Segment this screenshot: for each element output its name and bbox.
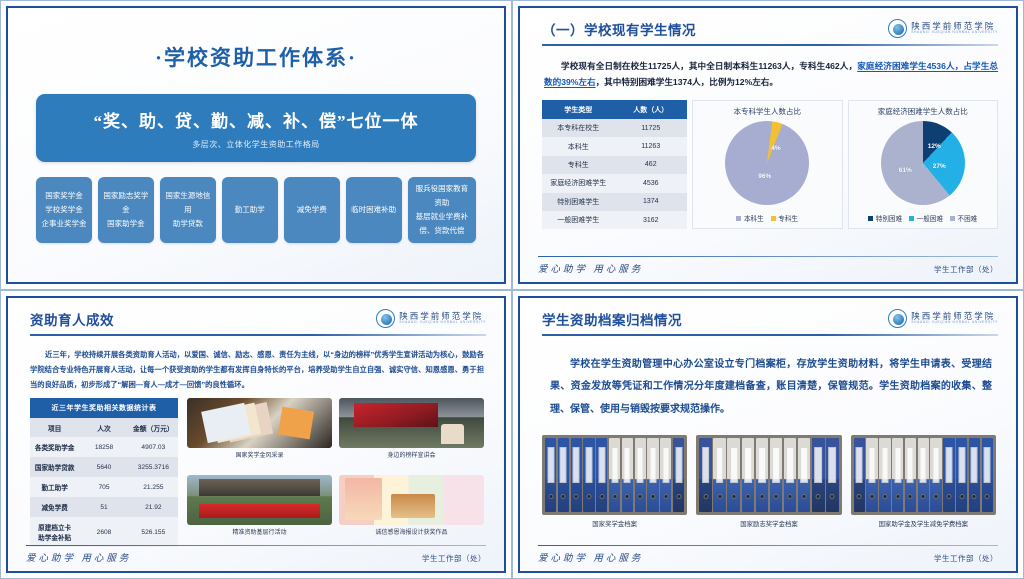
slide-2-footer: 爱心助学 用心服务 学生工作部（处） <box>538 256 998 275</box>
university-logo-text: 陕西学前师范学院 SHAANXI XUEQIAN NORMAL UNIVERSI… <box>399 312 486 325</box>
university-logo: 陕西学前师范学院 SHAANXI XUEQIAN NORMAL UNIVERSI… <box>376 309 486 328</box>
binder-spine-label <box>800 447 808 483</box>
pie-slices <box>725 121 809 205</box>
university-logo-text: 陕西学前师范学院 SHAANXI XUEQIAN NORMAL UNIVERSI… <box>911 22 998 35</box>
photo-caption: 身边的榜样宣讲会 <box>339 450 484 459</box>
binder-spine-label <box>945 447 952 483</box>
binder-spine-label <box>586 447 593 483</box>
pie-value-label: 27% <box>933 163 946 170</box>
binder-spine-label <box>560 447 567 483</box>
photo-image <box>187 475 332 525</box>
pie-chart-undergrad-card: 本专科学生人数占比 4% 96% 本科生 专科生 <box>692 100 843 229</box>
pie-chart-undergrad: 4% 96% <box>725 121 809 205</box>
university-logo: 陕西学前师范学院 SHAANXI XUEQIAN NORMAL UNIVERSI… <box>888 309 998 328</box>
legend-swatch-icon <box>868 216 873 221</box>
slide-4-footer: 爱心助学 用心服务 学生工作部（处） <box>538 545 998 564</box>
binder <box>918 438 929 512</box>
slide-3-frame: 资助育人成效 陕西学前师范学院 SHAANXI XUEQIAN NORMAL U… <box>6 296 506 573</box>
column-header-persons: 人次 <box>79 418 128 437</box>
page-title: （一）学校现有学生情况 <box>542 19 696 39</box>
photo-caption: 国家奖学金风采录 <box>187 450 332 459</box>
binder <box>596 438 607 512</box>
gallery-item: 国家奖学金风采录 <box>187 398 332 471</box>
aid-category-line: 助学贷款 <box>163 217 213 231</box>
legend-label: 专科生 <box>778 213 798 223</box>
cell-amount: 3255.3716 <box>129 457 178 477</box>
pie-slices <box>881 121 965 205</box>
binder <box>943 438 954 512</box>
cell-item: 各类奖助学金 <box>30 437 79 457</box>
page-title: ·学校资助工作体系· <box>8 42 504 72</box>
archive-photo-row: 国家奖学金档案 国家励志奖学金档案 国家助学金及学生减免学费档案 <box>542 435 996 528</box>
slide-2-paragraph: 学校现有全日制在校生11725人，其中全日制本科生11263人，专科生462人，… <box>544 58 998 92</box>
binder-spine-label <box>716 447 724 483</box>
column-header-count: 人数（人） <box>615 100 688 119</box>
photo-caption: 精准资助基层行活动 <box>187 527 332 536</box>
cell-persons: 51 <box>79 497 128 517</box>
cell-amount: 21.92 <box>129 497 178 517</box>
aid-category-line: 基层就业学费补 <box>416 210 469 224</box>
cell-count: 1374 <box>615 193 688 211</box>
binder-spine-label <box>856 447 863 483</box>
table-row: 本专科在校生 11725 <box>542 119 687 137</box>
table-row: 减免学费 51 21.92 <box>30 497 178 517</box>
table-caption-row: 近三年学生奖助相关数据统计表 <box>30 398 178 418</box>
slide-2-header: （一）学校现有学生情况 陕西学前师范学院 SHAANXI XUEQIAN NOR… <box>520 8 1016 39</box>
university-emblem-icon <box>376 309 395 328</box>
binder-spine-label <box>814 447 822 483</box>
binder-spine-label <box>702 447 710 483</box>
page-title: 学生资助档案归档情况 <box>542 309 682 329</box>
footer-divider <box>538 256 998 257</box>
slide-3-content-row: 近三年学生奖助相关数据统计表 项目 人次 金额（万元） 各类奖助学金 18258… <box>30 398 484 547</box>
shelf-photo <box>851 435 996 515</box>
cell-count: 3162 <box>615 211 688 229</box>
photo-image <box>187 398 332 448</box>
slide-3-header: 资助育人成效 陕西学前师范学院 SHAANXI XUEQIAN NORMAL U… <box>8 298 504 329</box>
cell-type: 一般困难学生 <box>542 211 615 229</box>
paragraph-part-1: 学校现有全日制在校生11725人，其中全日制本科生11263人，专科生462人， <box>561 61 857 71</box>
legend-swatch-icon <box>771 216 776 221</box>
binder <box>798 438 811 512</box>
aid-category-line: 学校奖学金 <box>41 203 86 217</box>
cell-type: 本科生 <box>542 137 615 155</box>
binder-spine-label <box>624 447 631 483</box>
cell-amount: 21.255 <box>129 477 178 497</box>
binder <box>699 438 712 512</box>
pie-value-label: 12% <box>928 143 941 150</box>
footer-row: 爱心助学 用心服务 学生工作部（处） <box>538 550 998 564</box>
slide-4-paragraph: 学校在学生资助管理中心办公室设立专门档案柜，存放学生资助材料，将学生申请表、受理… <box>550 354 992 422</box>
cell-persons: 5640 <box>79 457 128 477</box>
footer-divider <box>538 545 998 546</box>
legend-label: 一般困难 <box>917 213 943 223</box>
cell-count: 11725 <box>615 119 688 137</box>
pie-value-label: 61% <box>899 167 912 174</box>
slide-2-frame: （一）学校现有学生情况 陕西学前师范学院 SHAANXI XUEQIAN NOR… <box>518 6 1018 284</box>
binder <box>892 438 903 512</box>
binder <box>905 438 916 512</box>
gallery-item: 精准资助基层行活动 <box>187 475 332 548</box>
binder-spine-label <box>611 447 618 483</box>
slide-2: （一）学校现有学生情况 陕西学前师范学院 SHAANXI XUEQIAN NOR… <box>512 0 1024 290</box>
slide-1: ·学校资助工作体系· “奖、助、贷、勤、减、补、偿”七位一体 多层次、立体化学生… <box>0 0 512 290</box>
binder-spine-label <box>984 447 991 483</box>
shelf-photo <box>542 435 687 515</box>
column-header-item: 项目 <box>30 418 79 437</box>
binder <box>866 438 877 512</box>
legend-item: 特别困难 <box>868 213 902 223</box>
binder <box>854 438 865 512</box>
cell-persons: 2608 <box>79 517 128 547</box>
table-row: 原建档立卡 助学金补贴 2608 526.155 <box>30 517 178 547</box>
aid-category-line: 勤工助学 <box>235 203 265 217</box>
archive-shelf: 国家助学金及学生减免学费档案 <box>851 435 996 528</box>
shelf-photo <box>696 435 841 515</box>
slide-3-paragraph: 近三年，学校持续开展各类资助育人活动，以爱国、诚信、励志、感恩、责任为主线，以“… <box>30 347 484 393</box>
cell-item: 勤工助学 <box>30 477 79 497</box>
university-emblem-icon <box>888 19 907 38</box>
binder <box>713 438 726 512</box>
binder <box>784 438 797 512</box>
cell-amount: 526.155 <box>129 517 178 547</box>
university-emblem-icon <box>888 309 907 328</box>
binder-spine-label <box>730 447 738 483</box>
chart-title: 家庭经济困难学生人数占比 <box>878 106 968 117</box>
photo-gallery: 国家奖学金风采录 身边的榜样宣讲会 精准资助基层行活动 诚信感恩海报设计获奖作品 <box>187 398 484 547</box>
binder-spine-label <box>971 447 978 483</box>
gallery-item: 诚信感恩海报设计获奖作品 <box>339 475 484 548</box>
binder <box>609 438 620 512</box>
table-header-row: 学生类型 人数（人） <box>542 100 687 119</box>
cell-type: 特别困难学生 <box>542 193 615 211</box>
cell-type: 家庭经济困难学生 <box>542 174 615 192</box>
aid-category-box[interactable]: 勤工助学 <box>222 177 278 243</box>
binder <box>635 438 646 512</box>
binder <box>756 438 769 512</box>
header-divider <box>30 334 486 336</box>
slide-3-footer: 爱心助学 用心服务 学生工作部（处） <box>26 545 486 564</box>
column-header-amount: 金额（万元） <box>129 418 178 437</box>
table-row: 勤工助学 705 21.255 <box>30 477 178 497</box>
footer-department: 学生工作部（处） <box>934 553 998 564</box>
binder-spine-label <box>598 447 605 483</box>
column-header-type: 学生类型 <box>542 100 615 119</box>
cell-persons: 705 <box>79 477 128 497</box>
pie-chart-hardship: 12% 27% 61% <box>881 121 965 205</box>
pie-value-label: 96% <box>758 173 771 180</box>
legend-item: 一般困难 <box>909 213 943 223</box>
university-name-en: SHAANXI XUEQIAN NORMAL UNIVERSITY <box>911 321 998 325</box>
binder <box>982 438 993 512</box>
university-name-en: SHAANXI XUEQIAN NORMAL UNIVERSITY <box>911 31 998 35</box>
banner-subtitle: 多层次、立体化学生资助工作格局 <box>46 139 466 150</box>
slide-3: 资助育人成效 陕西学前师范学院 SHAANXI XUEQIAN NORMAL U… <box>0 290 512 579</box>
table-row: 专科生 462 <box>542 156 687 174</box>
aid-category-line: 企事业奖学金 <box>41 217 86 231</box>
aid-category-line: 服兵役国家教育 <box>416 182 469 196</box>
binder <box>727 438 740 512</box>
cell-count: 462 <box>615 156 688 174</box>
legend-label: 特别困难 <box>876 213 902 223</box>
slide-grid: ·学校资助工作体系· “奖、助、贷、勤、减、补、偿”七位一体 多层次、立体化学生… <box>0 0 1024 579</box>
chart-title: 本专科学生人数占比 <box>734 106 802 117</box>
slide-4-header: 学生资助档案归档情况 陕西学前师范学院 SHAANXI XUEQIAN NORM… <box>520 298 1016 329</box>
binder <box>673 438 684 512</box>
binder <box>826 438 839 512</box>
binder <box>812 438 825 512</box>
university-logo: 陕西学前师范学院 SHAANXI XUEQIAN NORMAL UNIVERSI… <box>888 19 998 38</box>
binder <box>571 438 582 512</box>
aid-category-line: 国家生源地信用 <box>163 189 213 217</box>
aid-category-box[interactable]: 服兵役国家教育 资助 基层就业学费补 偿、贷款代偿 <box>408 177 476 243</box>
cell-count: 4536 <box>615 174 688 192</box>
binder <box>879 438 890 512</box>
legend-swatch-icon <box>736 216 741 221</box>
binder <box>770 438 783 512</box>
footer-department: 学生工作部（处） <box>934 264 998 275</box>
binder-spine-label <box>772 447 780 483</box>
shelf-caption: 国家奖学金档案 <box>542 519 687 528</box>
aid-category-box[interactable]: 国家励志奖学金 国家助学金 <box>98 177 154 243</box>
aid-category-line: 偿、贷款代偿 <box>416 224 469 238</box>
aid-category-box[interactable]: 减免学费 <box>284 177 340 243</box>
page-title: 资助育人成效 <box>30 309 114 329</box>
slide-4-frame: 学生资助档案归档情况 陕西学前师范学院 SHAANXI XUEQIAN NORM… <box>518 296 1018 573</box>
table-row: 各类奖助学金 18258 4907.03 <box>30 437 178 457</box>
binder-spine-label <box>637 447 644 483</box>
aid-category-line: 国家奖学金 <box>41 189 86 203</box>
pie-value-label: 4% <box>771 145 780 152</box>
three-year-stats-table: 近三年学生奖助相关数据统计表 项目 人次 金额（万元） 各类奖助学金 18258… <box>30 398 178 547</box>
cell-item: 国家助学贷款 <box>30 457 79 477</box>
table-row: 特别困难学生 1374 <box>542 193 687 211</box>
binder <box>660 438 671 512</box>
header-divider <box>542 44 998 46</box>
cell-type: 本专科在校生 <box>542 119 615 137</box>
shelf-caption: 国家助学金及学生减免学费档案 <box>851 519 996 528</box>
slide-4: 学生资助档案归档情况 陕西学前师范学院 SHAANXI XUEQIAN NORM… <box>512 290 1024 579</box>
archive-shelf: 国家励志奖学金档案 <box>696 435 841 528</box>
aid-category-box[interactable]: 临时困难补助 <box>346 177 402 243</box>
binder-spine-label <box>907 447 914 483</box>
legend-label: 本科生 <box>744 213 764 223</box>
shelf-caption: 国家励志奖学金档案 <box>696 519 841 528</box>
legend-swatch-icon <box>950 216 955 221</box>
binder-spine-label <box>933 447 940 483</box>
seven-in-one-banner: “奖、助、贷、勤、减、补、偿”七位一体 多层次、立体化学生资助工作格局 <box>36 94 476 162</box>
binder-spine-label <box>547 447 554 483</box>
binder-spine-label <box>920 447 927 483</box>
binder-spine-label <box>881 447 888 483</box>
binder <box>956 438 967 512</box>
table-row: 国家助学贷款 5640 3255.3716 <box>30 457 178 477</box>
binder-spine-label <box>744 447 752 483</box>
footer-slogan: 爱心助学 用心服务 <box>538 550 643 564</box>
chart-legend: 特别困难 一般困难 不困难 <box>868 213 977 223</box>
legend-swatch-icon <box>909 216 914 221</box>
footer-department: 学生工作部（处） <box>422 553 486 564</box>
slide-1-frame: ·学校资助工作体系· “奖、助、贷、勤、减、补、偿”七位一体 多层次、立体化学生… <box>6 6 506 284</box>
banner-headline: “奖、助、贷、勤、减、补、偿”七位一体 <box>46 107 466 132</box>
cell-amount: 4907.03 <box>129 437 178 457</box>
binder-spine-label <box>786 447 794 483</box>
cell-count: 11263 <box>615 137 688 155</box>
table-row: 本科生 11263 <box>542 137 687 155</box>
binder <box>930 438 941 512</box>
binder-spine-label <box>894 447 901 483</box>
binder <box>742 438 755 512</box>
binder-spine-label <box>828 447 836 483</box>
cell-persons: 18258 <box>79 437 128 457</box>
legend-label: 不困难 <box>957 213 977 223</box>
binder-spine-label <box>758 447 766 483</box>
university-logo-text: 陕西学前师范学院 SHAANXI XUEQIAN NORMAL UNIVERSI… <box>911 312 998 325</box>
binder-spine-label <box>958 447 965 483</box>
binder-spine-label <box>650 447 657 483</box>
aid-category-box[interactable]: 国家生源地信用 助学贷款 <box>160 177 216 243</box>
aid-category-row: 国家奖学金 学校奖学金 企事业奖学金 国家励志奖学金 国家助学金 国家生源地信用… <box>36 177 476 243</box>
pie-chart-hardship-card: 家庭经济困难学生人数占比 12% 27% 61% 特别困难 <box>848 100 999 229</box>
legend-item: 本科生 <box>736 213 763 223</box>
binder <box>647 438 658 512</box>
photo-image <box>339 475 484 525</box>
aid-category-line: 资助 <box>416 196 469 210</box>
university-name-en: SHAANXI XUEQIAN NORMAL UNIVERSITY <box>399 321 486 325</box>
student-counts-table: 学生类型 人数（人） 本专科在校生 11725 本科生 11263 <box>542 100 687 229</box>
footer-row: 爱心助学 用心服务 学生工作部（处） <box>538 261 998 275</box>
aid-category-line: 减免学费 <box>297 203 327 217</box>
binder <box>545 438 556 512</box>
binder-spine-label <box>662 447 669 483</box>
footer-row: 爱心助学 用心服务 学生工作部（处） <box>26 550 486 564</box>
binder <box>583 438 594 512</box>
chart-legend: 本科生 专科生 <box>736 213 798 223</box>
binder-spine-label <box>869 447 876 483</box>
footer-slogan: 爱心助学 用心服务 <box>26 550 131 564</box>
slide-2-content-row: 学生类型 人数（人） 本专科在校生 11725 本科生 11263 <box>542 100 998 229</box>
photo-caption: 诚信感恩海报设计获奖作品 <box>339 527 484 536</box>
binder-spine-label <box>573 447 580 483</box>
archive-shelf: 国家奖学金档案 <box>542 435 687 528</box>
binder <box>969 438 980 512</box>
table-row: 家庭经济困难学生 4536 <box>542 174 687 192</box>
cell-item: 减免学费 <box>30 497 79 517</box>
header-divider <box>542 334 998 336</box>
legend-item: 专科生 <box>771 213 798 223</box>
table-row: 一般困难学生 3162 <box>542 211 687 229</box>
table-caption: 近三年学生奖助相关数据统计表 <box>30 398 178 418</box>
paragraph-part-2: ，其中特别困难学生1374人，比例为12%左右。 <box>596 77 778 87</box>
aid-category-line: 国家助学金 <box>101 217 151 231</box>
binder-spine-label <box>675 447 682 483</box>
footer-slogan: 爱心助学 用心服务 <box>538 261 643 275</box>
gallery-item: 身边的榜样宣讲会 <box>339 398 484 471</box>
aid-category-line: 国家励志奖学金 <box>101 189 151 217</box>
table-header-row: 项目 人次 金额（万元） <box>30 418 178 437</box>
cell-type: 专科生 <box>542 156 615 174</box>
cell-item: 原建档立卡 助学金补贴 <box>30 517 79 547</box>
photo-image <box>339 398 484 448</box>
aid-category-box[interactable]: 国家奖学金 学校奖学金 企事业奖学金 <box>36 177 92 243</box>
footer-divider <box>26 545 486 546</box>
legend-item: 不困难 <box>950 213 977 223</box>
binder <box>558 438 569 512</box>
binder <box>622 438 633 512</box>
aid-category-line: 临时困难补助 <box>351 203 396 217</box>
